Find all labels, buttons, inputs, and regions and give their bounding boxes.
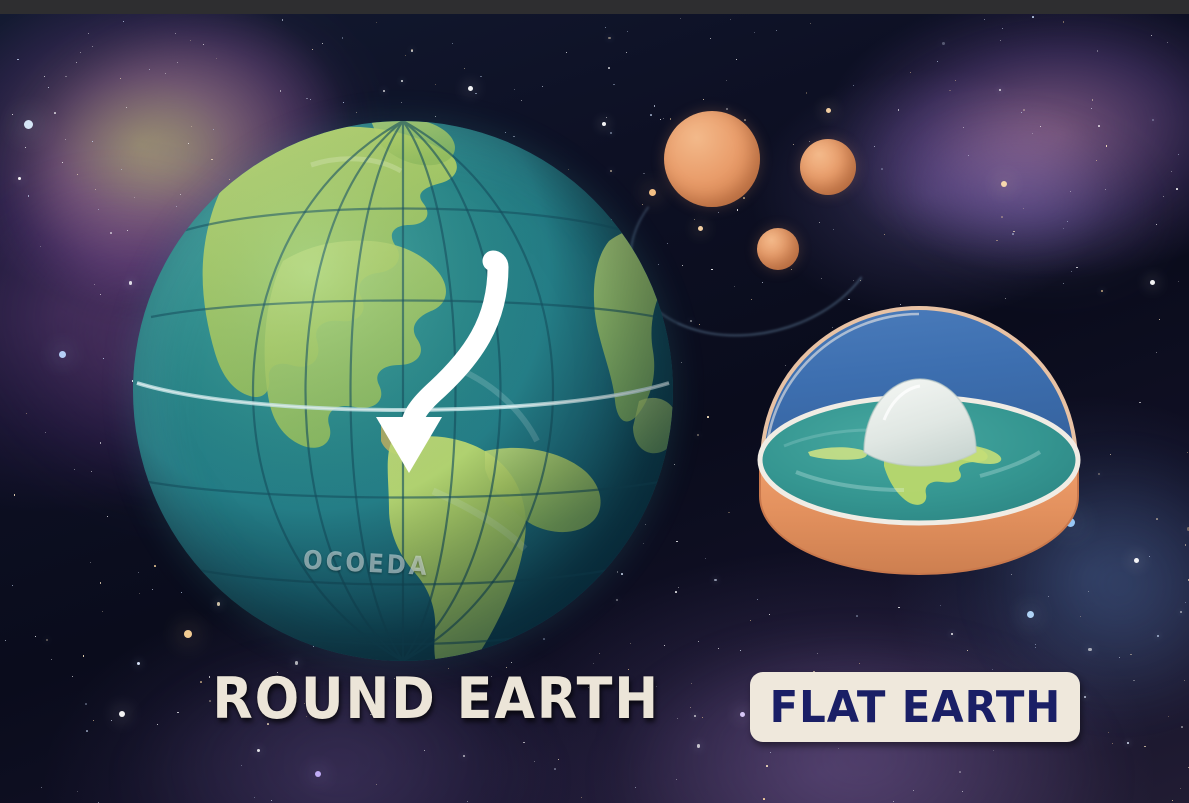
planet-large-icon [664, 111, 760, 207]
arrow-head [376, 417, 442, 473]
flat-earth-illustration [744, 300, 1094, 590]
round-earth-label: ROUND EARTH [212, 666, 589, 732]
flat-earth-badge: FLAT EARTH [750, 672, 1080, 742]
illustration-canvas: OCOEDA [0, 0, 1189, 803]
flat-earth-svg [744, 300, 1094, 590]
flat-earth-label: FLAT EARTH [769, 682, 1061, 733]
arrow-overlay [133, 121, 673, 661]
window-top-bar [0, 0, 1189, 14]
curved-arrow-icon [133, 121, 673, 661]
planet-medium-icon [800, 139, 856, 195]
arrow-shaft [409, 261, 498, 435]
planet-small-icon [757, 228, 799, 270]
